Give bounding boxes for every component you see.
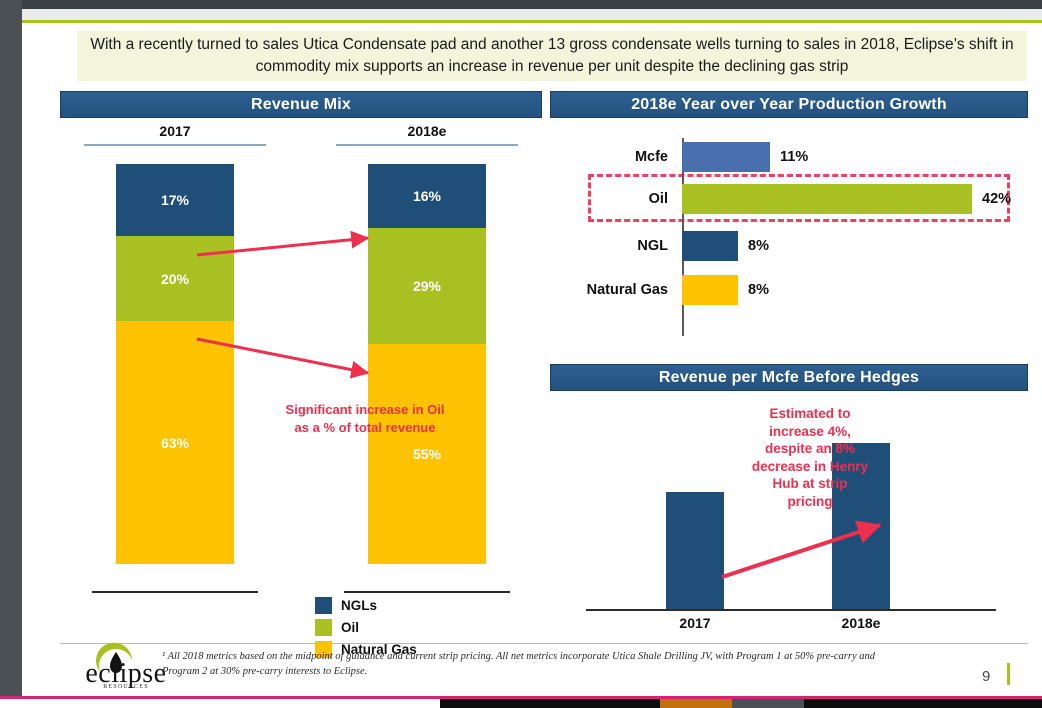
yoy-value-mcfe: 11% [780,149,808,165]
stack-segment-ngls-2018e: 16% [368,164,486,228]
yoy-value-natural-gas: 8% [748,282,769,298]
yoy-bar-mcfe [682,142,770,172]
yoy-label-mcfe: Mcfe [550,149,676,165]
yoy-value-ngl: 8% [748,238,769,254]
stacked-bar-2018e: 16% 29% 55% [368,164,486,564]
legend-item-ngls: NGLs [315,597,417,614]
taskbar-segment-right [804,699,1042,708]
year-underline-rule [84,144,266,146]
yoy-label-oil: Oil [550,191,676,207]
axis-baseline-2018e [344,591,510,593]
yoy-row-ngl: NGL 8% [550,229,769,263]
legend-item-oil: Oil [315,619,417,636]
stack-segment-ngls-2017: 17% [116,164,234,236]
rpm-xlabel-2018e: 2018e [801,615,921,631]
section-header-revenue-per-mcfe-label: Revenue per Mcfe Before Hedges [659,369,919,387]
headline-text: With a recently turned to sales Utica Co… [89,34,1015,79]
stack-label-ngls-2017: 17% [161,192,189,208]
annotation-revenue-mix: Significant increase in Oil as a % of to… [285,401,445,436]
headline-banner: With a recently turned to sales Utica Co… [77,31,1027,81]
year-underline-rule [336,144,518,146]
yoy-row-natural-gas: Natural Gas 8% [550,273,769,307]
rpm-axis-baseline [586,609,996,611]
legend-label-ngls: NGLs [341,598,377,613]
slide-canvas: With a recently turned to sales Utica Co… [22,23,1042,696]
footer-divider [60,643,1028,644]
taskbar-segment-active[interactable] [660,699,732,708]
section-header-revenue-mix-label: Revenue Mix [251,96,351,114]
slide-window: With a recently turned to sales Utica Co… [0,0,1042,708]
yoy-bar-natural-gas [682,275,738,305]
rpm-bar-2017 [666,492,724,609]
stack-segment-oil-2018e: 29% [368,228,486,344]
annotation-revenue-per-mcfe: Estimated to increase 4%, despite an 8% … [750,405,870,510]
section-header-yoy-growth-label: 2018e Year over Year Production Growth [631,96,947,114]
taskbar-segment-left [0,699,440,708]
stack-label-ngls-2018e: 16% [413,188,441,204]
yoy-label-ngl: NGL [550,238,676,254]
stack-segment-natural-gas-2017: 63% [116,321,234,564]
legend-swatch-oil-icon [315,619,332,636]
stack-segment-oil-2017: 20% [116,236,234,321]
page-number: 9 [982,668,990,685]
stack-label-oil-2018e: 29% [413,278,441,294]
legend-swatch-ngls-icon [315,597,332,614]
revenue-mix-column-2017: 2017 17% 20% 63% [80,123,270,564]
axis-baseline-2017 [92,591,258,593]
footnote-text: ¹ All 2018 metrics based on the midpoint… [162,649,902,679]
logo-subtext: RESOURCES [70,684,182,690]
taskbar-segment-mid [440,699,660,708]
legend-label-oil: Oil [341,620,359,635]
revenue-mix-year-label-2017: 2017 [80,123,270,144]
yoy-bar-ngl [682,231,738,261]
window-left-edge [0,0,22,698]
stack-label-oil-2017: 20% [161,271,189,287]
page-number-accent-bar [1007,663,1010,685]
yoy-label-natural-gas: Natural Gas [550,282,676,298]
yoy-production-growth-chart: Mcfe 11% Oil 42% NGL 8% Natural Gas 8% [550,126,1028,356]
yoy-bar-oil [682,184,972,214]
stack-label-natural-gas-2018e: 55% [413,446,441,462]
window-top-bar [0,0,1042,9]
revenue-mix-column-2018e: 2018e 16% 29% 55% [332,123,522,564]
section-header-yoy-growth: 2018e Year over Year Production Growth [550,91,1028,118]
stack-label-natural-gas-2017: 63% [161,435,189,451]
stack-segment-natural-gas-2018e: 55% [368,344,486,564]
yoy-value-oil: 42% [982,191,1011,207]
revenue-per-mcfe-chart: 2017 2018e Estimated to increase 4%, des… [550,397,1028,647]
revenue-mix-chart: 2017 17% 20% 63% 2018e [60,123,542,613]
yoy-row-oil: Oil 42% [550,182,1011,216]
taskbar-segment-inactive[interactable] [732,699,804,708]
rpm-xlabel-2017: 2017 [635,615,755,631]
section-header-revenue-per-mcfe: Revenue per Mcfe Before Hedges [550,364,1028,391]
yoy-row-mcfe: Mcfe 11% [550,140,808,174]
revenue-mix-year-label-2018e: 2018e [332,123,522,144]
stacked-bar-2017: 17% 20% 63% [116,164,234,564]
section-header-revenue-mix: Revenue Mix [60,91,542,118]
